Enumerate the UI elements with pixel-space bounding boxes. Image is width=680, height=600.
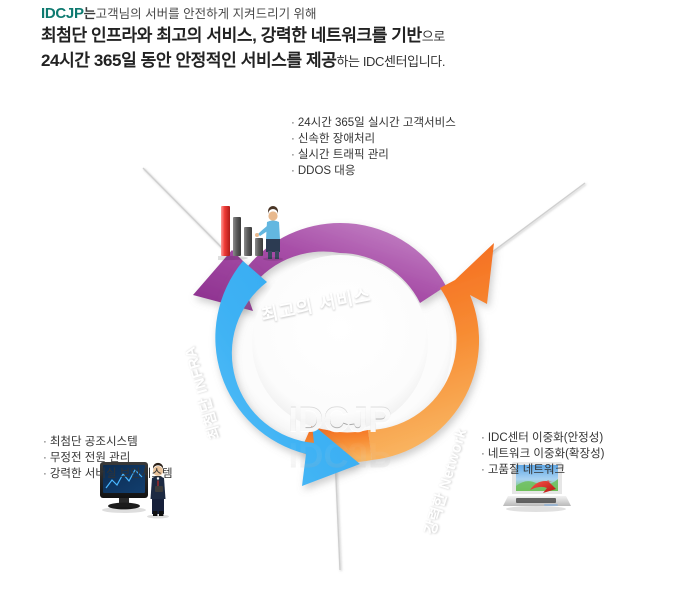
brand-name: IDCJP — [41, 5, 84, 22]
list-item: ·IDC센터 이중화(안정성) — [481, 430, 605, 446]
list-item-label: IDC센터 이중화(안정성) — [488, 432, 603, 444]
list-item: ·신속한 장애처리 — [291, 131, 456, 147]
list-item-label: 강력한 서버실 보안시스템 — [50, 468, 173, 480]
callout-service-list: ·24시간 365일 실시간 고객서비스 ·신속한 장애처리 ·실시간 트래픽 … — [291, 115, 456, 179]
bullet-icon: · — [43, 452, 47, 464]
bullet-icon: · — [43, 436, 47, 448]
infographic-page: IDCJP는고객님의 서버를 안전하게 지켜드리기 위해 최첨단 인프라와 최고… — [0, 0, 680, 600]
list-item: ·고품질 네트워크 — [481, 462, 605, 478]
list-item: ·24시간 365일 실시간 고객서비스 — [291, 115, 456, 131]
list-item: ·실시간 트래픽 관리 — [291, 147, 456, 163]
bullet-icon: · — [291, 117, 295, 129]
list-item-label: 네트워크 이중화(확장성) — [488, 448, 605, 460]
bullet-icon: · — [43, 468, 47, 480]
list-item-label: 실시간 트래픽 관리 — [298, 149, 389, 161]
bullet-icon: · — [481, 432, 485, 444]
bullet-icon: · — [291, 133, 295, 145]
bullet-icon: · — [481, 448, 485, 460]
header-line-1: IDCJP는고객님의 서버를 안전하게 지켜드리기 위해 — [41, 4, 641, 24]
header-line-2-soft: 으로 — [422, 29, 445, 44]
header-line-3-soft: 하는 IDC센터입니다. — [337, 54, 446, 69]
list-item-label: DDOS 대응 — [298, 165, 356, 177]
center-logo: IDCJP IDCJP — [276, 400, 404, 474]
header-line-3: 24시간 365일 동안 안정적인 서비스를 제공하는 IDC센터입니다. — [41, 49, 641, 74]
bar-chart-presentation-icon — [218, 200, 284, 262]
header-block: IDCJP는고객님의 서버를 안전하게 지켜드리기 위해 최첨단 인프라와 최고… — [41, 4, 641, 74]
bullet-icon: · — [291, 149, 295, 161]
list-item-label: 최첨단 공조시스템 — [50, 436, 138, 448]
bullet-icon: · — [291, 165, 295, 177]
header-line-2: 최첨단 인프라와 최고의 서비스, 강력한 네트워크를 기반으로 — [41, 24, 641, 49]
list-item: ·네트워크 이중화(확장성) — [481, 446, 605, 462]
bullet-icon: · — [481, 464, 485, 476]
header-line-2-strong: 최첨단 인프라와 최고의 서비스, 강력한 네트워크를 기반 — [41, 26, 422, 45]
list-item: ·강력한 서버실 보안시스템 — [43, 466, 173, 482]
brand-particle: 는 — [84, 6, 96, 21]
list-item: ·최첨단 공조시스템 — [43, 434, 173, 450]
list-item-label: 24시간 365일 실시간 고객서비스 — [298, 117, 456, 129]
list-item-label: 무정전 전원 관리 — [50, 452, 130, 464]
list-item-label: 고품질 네트워크 — [488, 464, 565, 476]
list-item-label: 신속한 장애처리 — [298, 133, 375, 145]
center-logo-reflection: IDCJP — [276, 434, 404, 474]
callout-infra-list: ·최첨단 공조시스템 ·무정전 전원 관리 ·강력한 서버실 보안시스템 — [43, 434, 173, 482]
header-line-1-rest: 고객님의 서버를 안전하게 지켜드리기 위해 — [96, 7, 317, 21]
callout-network-list: ·IDC센터 이중화(안정성) ·네트워크 이중화(확장성) ·고품질 네트워크 — [481, 430, 605, 478]
list-item: ·DDOS 대응 — [291, 163, 456, 179]
list-item: ·무정전 전원 관리 — [43, 450, 173, 466]
header-line-3-strong: 24시간 365일 동안 안정적인 서비스를 제공 — [41, 51, 337, 70]
